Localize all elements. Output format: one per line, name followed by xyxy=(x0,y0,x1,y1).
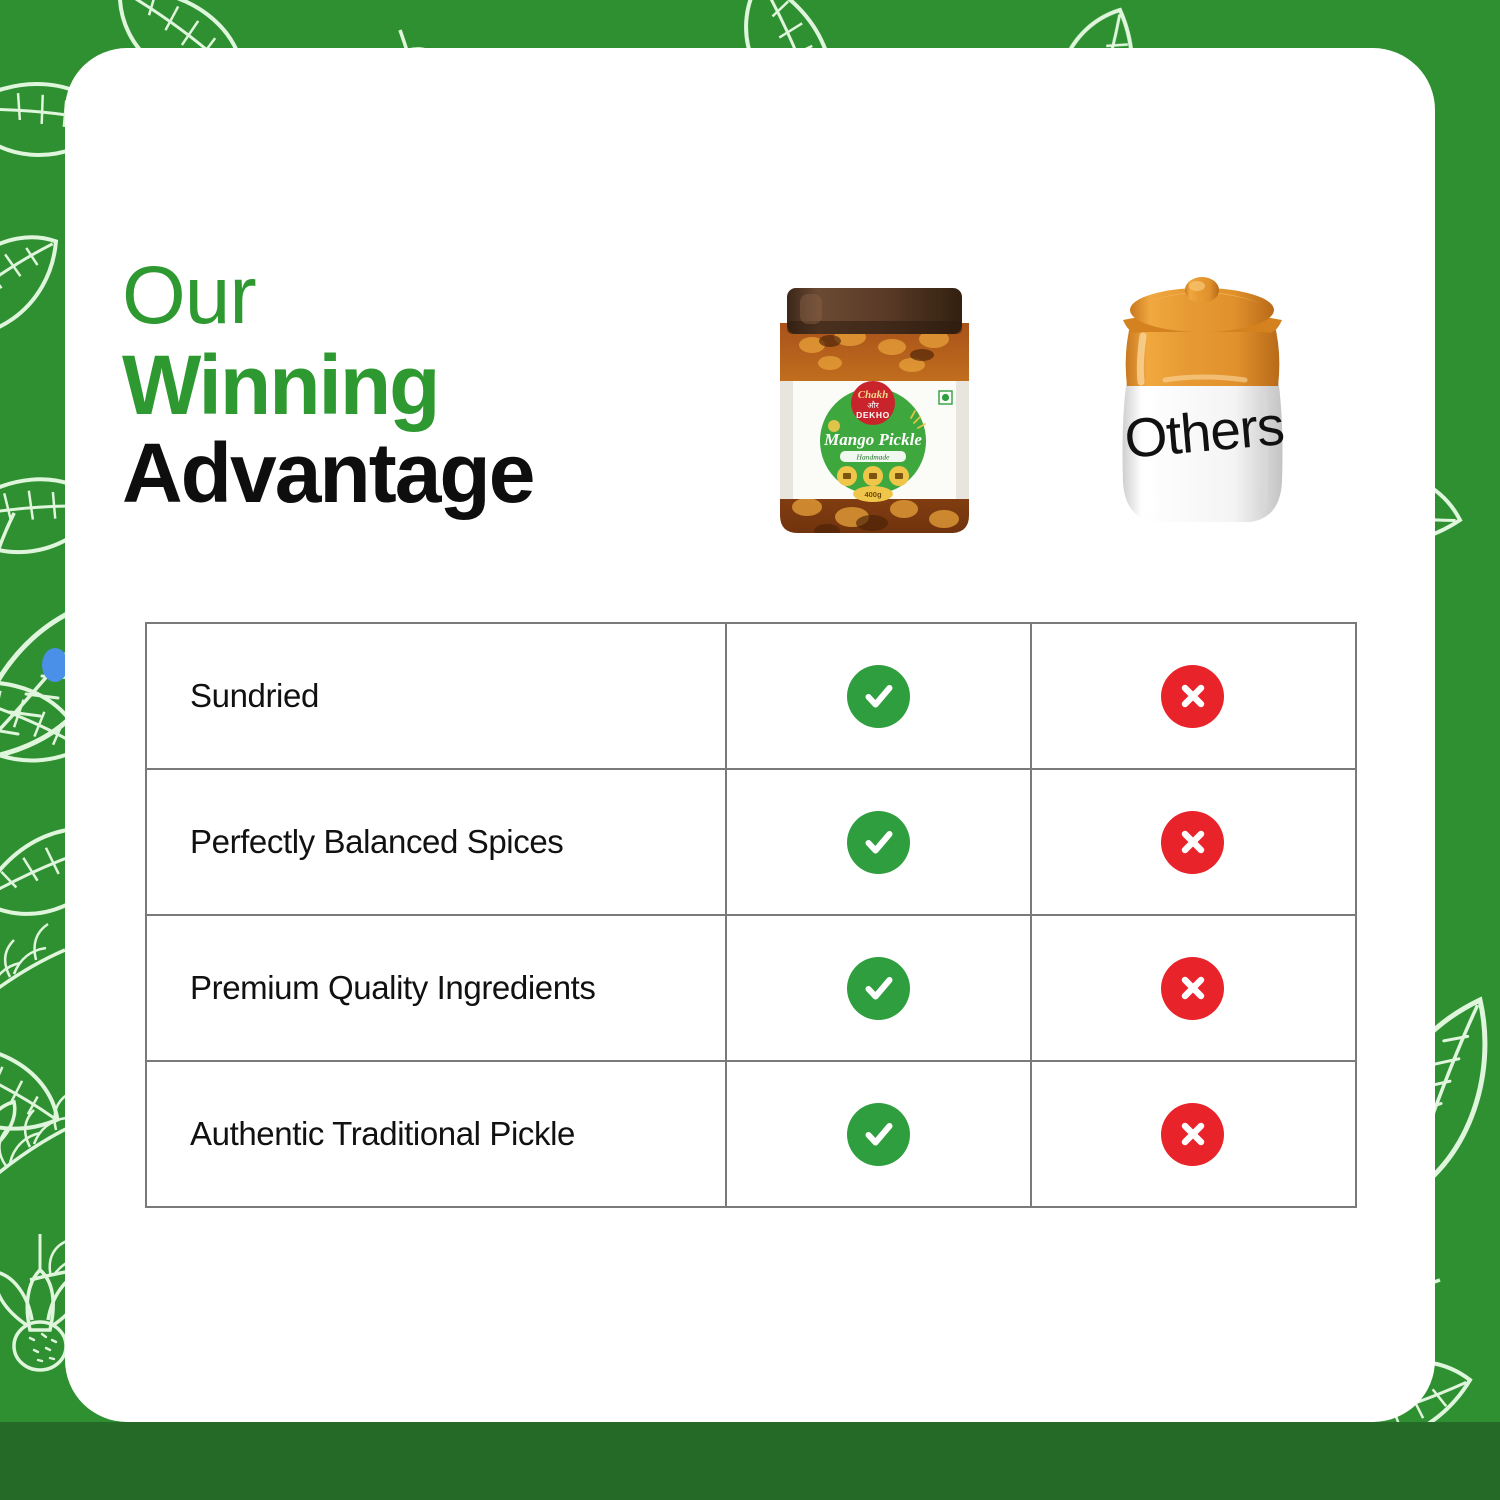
quality-badge-icons xyxy=(837,466,909,486)
cross-icon xyxy=(1161,665,1224,728)
product-name-text: Mango Pickle xyxy=(823,430,922,449)
veg-mark-icon xyxy=(942,394,949,401)
check-icon xyxy=(847,811,910,874)
ours-cell xyxy=(727,916,1032,1060)
ours-cell xyxy=(727,1062,1032,1206)
our-product-jar-image: Chakh और DEKHO Mango Pickle Handmade 400… xyxy=(772,283,977,536)
brand-name-chakh: Chakh xyxy=(858,389,889,401)
others-cell xyxy=(1032,624,1353,768)
others-cell xyxy=(1032,916,1353,1060)
ours-cell xyxy=(727,624,1032,768)
page-title: Our Winning Advantage xyxy=(122,255,533,515)
table-row: Sundried xyxy=(147,624,1355,770)
cross-icon xyxy=(1161,811,1224,874)
cross-icon xyxy=(1161,957,1224,1020)
title-line-our: Our xyxy=(122,255,533,337)
check-icon xyxy=(847,1103,910,1166)
cross-icon xyxy=(1161,1103,1224,1166)
brand-name-dekho: DEKHO xyxy=(856,410,890,420)
feature-label-cell: Premium Quality Ingredients xyxy=(147,916,727,1060)
feature-label-cell: Sundried xyxy=(147,624,727,768)
check-icon xyxy=(847,665,910,728)
feature-label-cell: Authentic Traditional Pickle xyxy=(147,1062,727,1206)
comparison-table: Sundried Perfectly Balanced Spices xyxy=(145,622,1357,1208)
bottom-accent-band xyxy=(0,1422,1500,1500)
table-row: Perfectly Balanced Spices xyxy=(147,770,1355,916)
title-line-winning: Winning xyxy=(122,343,533,427)
title-line-advantage: Advantage xyxy=(122,431,533,515)
product-subtitle-text: Handmade xyxy=(856,453,891,462)
brand-name-aur: और xyxy=(867,400,879,410)
table-row: Premium Quality Ingredients xyxy=(147,916,1355,1062)
others-cell xyxy=(1032,1062,1353,1206)
feature-label-cell: Perfectly Balanced Spices xyxy=(147,770,727,914)
others-cell xyxy=(1032,770,1353,914)
check-icon xyxy=(847,957,910,1020)
net-weight-text: 400g xyxy=(864,490,882,499)
table-row: Authentic Traditional Pickle xyxy=(147,1062,1355,1206)
ours-cell xyxy=(727,770,1032,914)
